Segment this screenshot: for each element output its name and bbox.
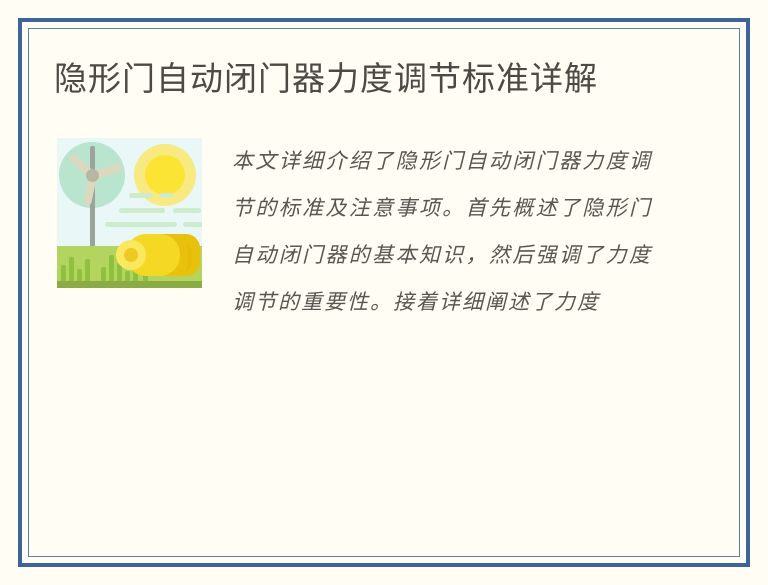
grass-blade [85,259,90,281]
grass-blade [109,255,114,281]
article-summary-text: 本文详细介绍了隐形门自动闭门器力度调节的标准及注意事项。首先概述了隐形门自动闭门… [232,138,652,326]
grass-blade [77,269,82,281]
grass-blade [125,271,130,281]
cloud-icon [105,222,177,227]
article-summary: 本文详细介绍了隐形门自动闭门器力度调节的标准及注意事项。首先概述了隐形门自动闭门… [232,138,652,326]
cloud-icon [119,208,165,213]
sun-icon [145,155,185,195]
grass-blade [101,267,106,281]
cloud-icon [173,208,201,213]
turbine-hub [86,169,99,182]
hay-bale-spiral-inner [124,248,138,262]
cloud-icon [159,193,173,198]
ground-strip [57,281,202,288]
page-container: 隐形门自动闭门器力度调节标准详解 [0,0,768,585]
article-body: 本文详细介绍了隐形门自动闭门器力度调节的标准及注意事项。首先概述了隐形门自动闭门… [54,136,710,326]
grass-blade [69,257,74,281]
article-thumbnail-image [57,138,202,288]
cloud-icon [129,193,153,198]
page-title: 隐形门自动闭门器力度调节标准详解 [54,54,654,104]
cloud-icon [183,222,202,227]
grass-blade [61,265,66,281]
article-content: 隐形门自动闭门器力度调节标准详解 [28,28,740,557]
